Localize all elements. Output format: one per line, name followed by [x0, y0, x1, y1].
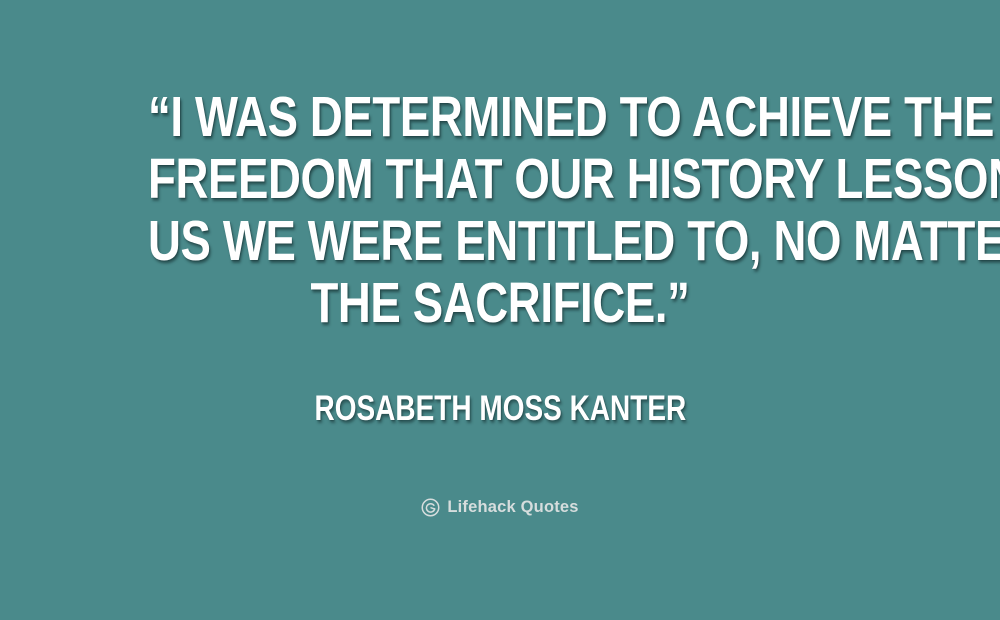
brand-name: Lifehack Quotes — [447, 498, 578, 517]
brand-footer: Lifehack Quotes — [0, 498, 1000, 517]
quote-author: ROSABETH MOSS KANTER — [314, 390, 686, 428]
quote-line-1: “I WAS DETERMINED TO ACHIEVE THE TOTAL — [148, 86, 852, 148]
quote-card: “I WAS DETERMINED TO ACHIEVE THE TOTAL F… — [0, 0, 1000, 620]
lifehack-spiral-logo-icon — [421, 498, 440, 517]
quote-line-4: THE SACRIFICE.” — [148, 272, 852, 334]
quote-text: “I WAS DETERMINED TO ACHIEVE THE TOTAL F… — [60, 86, 940, 334]
quote-line-2: FREEDOM THAT OUR HISTORY LESSONS TAUGHT — [148, 148, 852, 210]
quote-line-3: US WE WERE ENTITLED TO, NO MATTER WHAT — [148, 210, 852, 272]
